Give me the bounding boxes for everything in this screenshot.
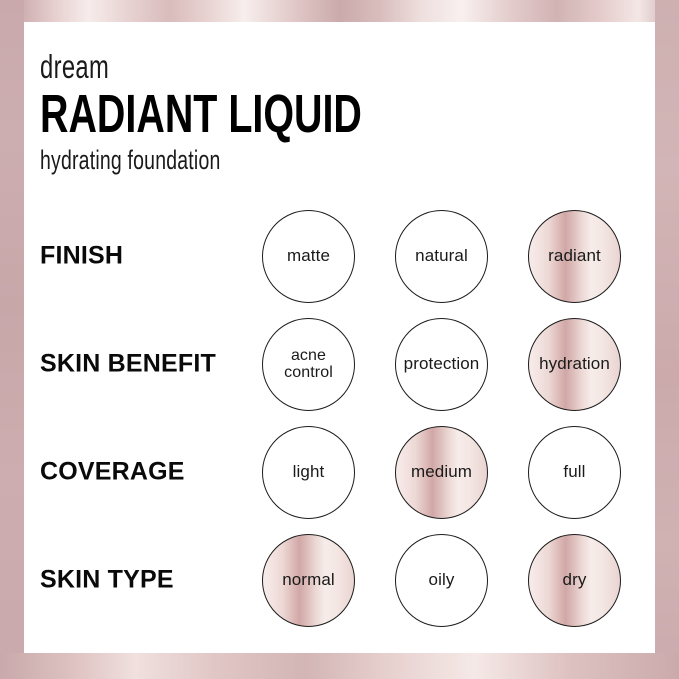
option-bubble-acne-control[interactable]: acne control (262, 318, 355, 411)
option-bubble-light[interactable]: light (262, 426, 355, 519)
product-subtitle: hydrating foundation (40, 147, 357, 174)
option-cell: hydration (508, 318, 641, 411)
row-label-finish: FINISH (40, 242, 123, 271)
brand-eyebrow: dream (40, 50, 357, 83)
option-label: oily (429, 571, 455, 589)
option-cell: light (242, 426, 375, 519)
option-label: medium (411, 463, 472, 481)
option-cell: normal (242, 534, 375, 627)
option-bubble-protection[interactable]: protection (395, 318, 488, 411)
attribute-row: SKIN BENEFIT acne control protection (24, 310, 655, 418)
option-bubble-full[interactable]: full (528, 426, 621, 519)
option-label: light (293, 463, 325, 481)
row-label-skin-type: SKIN TYPE (40, 566, 174, 595)
product-infographic: dream RADIANT LIQUID hydrating foundatio… (0, 0, 679, 679)
option-label: hydration (539, 355, 610, 373)
option-bubble-natural[interactable]: natural (395, 210, 488, 303)
option-bubble-radiant[interactable]: radiant (528, 210, 621, 303)
option-bubble-hydration[interactable]: hydration (528, 318, 621, 411)
option-label: dry (563, 571, 587, 589)
option-label: natural (415, 247, 468, 265)
frame-left-edge (0, 0, 24, 679)
option-cell: acne control (242, 318, 375, 411)
option-cell: matte (242, 210, 375, 303)
frame-bottom-edge (0, 653, 679, 679)
option-cell: natural (375, 210, 508, 303)
option-bubble-normal[interactable]: normal (262, 534, 355, 627)
white-card: dream RADIANT LIQUID hydrating foundatio… (24, 22, 655, 653)
row-label-coverage: COVERAGE (40, 458, 185, 487)
option-cell: medium (375, 426, 508, 519)
option-cell: dry (508, 534, 641, 627)
option-label: acne control (284, 347, 333, 382)
option-cell: oily (375, 534, 508, 627)
option-cells: normal oily dry (242, 526, 642, 634)
option-bubble-dry[interactable]: dry (528, 534, 621, 627)
attribute-row: SKIN TYPE normal oily dry (24, 526, 655, 634)
option-cell: full (508, 426, 641, 519)
row-label-skin-benefit: SKIN BENEFIT (40, 350, 216, 379)
option-bubble-matte[interactable]: matte (262, 210, 355, 303)
option-cells: light medium full (242, 418, 642, 526)
frame-right-edge (655, 0, 679, 679)
option-label: radiant (548, 247, 601, 265)
option-bubble-oily[interactable]: oily (395, 534, 488, 627)
option-label: matte (287, 247, 330, 265)
option-cell: protection (375, 318, 508, 411)
attribute-grid: FINISH matte natural radiant (24, 202, 655, 634)
option-cell: radiant (508, 210, 641, 303)
product-header: dream RADIANT LIQUID hydrating foundatio… (40, 50, 481, 174)
option-label: normal (282, 571, 335, 589)
option-bubble-medium[interactable]: medium (395, 426, 488, 519)
option-label: protection (404, 355, 480, 373)
page-title: RADIANT LIQUID (40, 87, 362, 141)
attribute-row: FINISH matte natural radiant (24, 202, 655, 310)
option-label: full (563, 463, 585, 481)
option-cells: matte natural radiant (242, 202, 642, 310)
option-cells: acne control protection hydration (242, 310, 642, 418)
attribute-row: COVERAGE light medium full (24, 418, 655, 526)
